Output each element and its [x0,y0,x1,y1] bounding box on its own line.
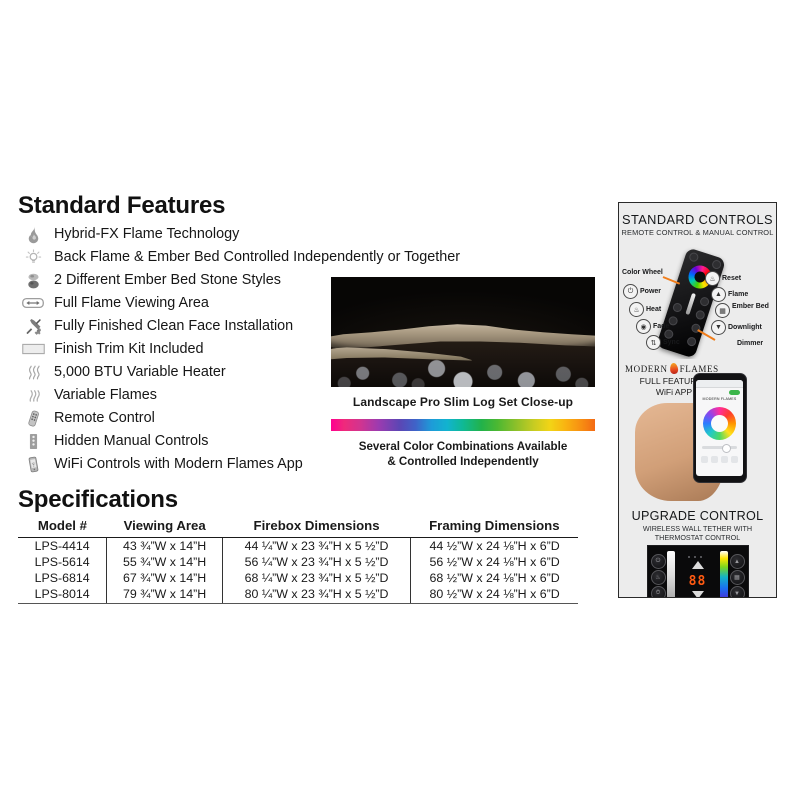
tether-timer-button[interactable]: ⏱ [651,586,666,598]
phone-brightness-slider[interactable] [702,446,737,449]
phone-screen: MODERN FLAMES [696,380,743,476]
downlight-icon: ▼ [711,320,726,335]
cell-framing: 68 ½”W x 24 ⅛”H x 6”D [411,570,578,586]
cell-framing: 44 ½”W x 24 ⅛”H x 6”D [411,538,578,555]
remote-button [699,296,710,307]
heat-waves-icon [18,362,48,383]
column-header-framing-dimensions: Framing Dimensions [411,516,578,538]
callout-label-downlight: Downlight [728,324,762,331]
list-item-label: Remote Control [54,411,155,425]
log-set-photo [331,277,595,387]
flame-icon [18,224,48,245]
specifications-title: Specifications [18,486,603,514]
tether-indicator-led [700,556,702,558]
standard-controls-subtitle: REMOTE CONTROL & MANUAL CONTROL [619,228,776,237]
table-row: LPS-4414 43 ¾”W x 14”H 44 ¼”W x 23 ¾”H x… [18,538,578,555]
wall-tether-device: ⏻ ♨ ⏱ ▣ ▲ ▦ ▼ ⇅ 88 [647,545,749,598]
color-gradient-bar [331,419,595,431]
cell-firebox: 68 ¼”W x 23 ¾”H x 5 ½”D [222,570,410,586]
phone-button[interactable] [701,456,708,463]
upgrade-control-title: UPGRADE CONTROL [619,509,776,523]
reset-icon: ♨ [705,271,720,286]
table-row: LPS-6814 67 ¾”W x 14”H 68 ¼”W x 23 ¾”H x… [18,570,578,586]
log-set-photo-block: Landscape Pro Slim Log Set Close-up Seve… [331,277,595,470]
tools-icon [18,316,48,337]
width-arrows-icon [18,293,48,314]
phone-button-row [701,456,738,463]
photo-caption: Landscape Pro Slim Log Set Close-up [331,395,595,409]
heat-icon: ♨ [629,302,644,317]
phone-button[interactable] [731,456,738,463]
list-item-label: Finish Trim Kit Included [54,342,204,356]
table-header-row: Model # Viewing Area Firebox Dimensions … [18,516,578,538]
brand-text-right: FLAMES [680,364,719,374]
column-header-viewing-area: Viewing Area [107,516,223,538]
phone-status-bar [696,380,743,388]
trim-rectangle-icon [18,339,48,360]
cell-firebox: 56 ¼”W x 23 ¾”H x 5 ½”D [222,554,410,570]
smartphone-device: MODERN FLAMES [693,373,747,483]
callout-label-ember-bed: Ember Bed [732,303,769,311]
list-item-label: Fully Finished Clean Face Installation [54,319,293,333]
fade-icon: ◉ [636,319,651,334]
color-note: Several Color Combinations Available & C… [331,440,595,470]
phone-color-wheel[interactable] [703,407,736,440]
tether-flame-button[interactable]: ▲ [730,554,745,569]
remote-button [686,336,697,347]
standard-controls-title: STANDARD CONTROLS [619,212,776,227]
callout-label-color-wheel: Color Wheel [622,269,663,276]
controls-panel: STANDARD CONTROLS REMOTE CONTROL & MANUA… [618,202,777,598]
cell-framing: 56 ½”W x 24 ⅛”H x 6”D [411,554,578,570]
cell-viewing-area: 55 ¾”W x 14”H [107,554,223,570]
cell-model: LPS-4414 [18,538,107,555]
cell-firebox: 80 ¼”W x 23 ¾”H x 5 ½”D [222,586,410,604]
upgrade-control-subtitle: WIRELESS WALL TETHER WITH THERMOSTAT CON… [619,524,776,542]
tether-color-slider[interactable] [720,551,728,598]
color-note-line-1: Several Color Combinations Available [331,440,595,455]
table-row: LPS-5614 55 ¾”W x 14”H 56 ¼”W x 23 ¾”H x… [18,554,578,570]
brand-flame-icon [669,363,678,375]
cell-framing: 80 ½”W x 24 ⅛”H x 6”D [411,586,578,604]
phone-button[interactable] [721,456,728,463]
list-item-label: Hidden Manual Controls [54,434,208,448]
remote-button [688,251,699,262]
callout-label-sync: Sync [663,339,680,346]
list-item-label: Full Flame Viewing Area [54,296,209,310]
standard-features-title: Standard Features [18,192,603,220]
specifications-table: Model # Viewing Area Firebox Dimensions … [18,516,578,604]
callout-label-fade: Fade [653,323,669,330]
callout-label-dimmer: Dimmer [737,340,763,347]
list-item-label: Variable Flames [54,388,157,402]
remote-icon [18,408,48,429]
ember-bed-icon: ▦ [715,303,730,318]
lightbulb-icon [18,247,48,268]
list-item-label: 2 Different Ember Bed Stone Styles [54,273,281,287]
column-header-model: Model # [18,516,107,538]
list-item: Back Flame & Ember Bed Controlled Indepe… [18,246,603,269]
upgrade-sub-line-2: THERMOSTAT CONTROL [619,533,776,542]
phone-power-toggle[interactable] [729,390,740,395]
tether-temperature-display: 88 [686,574,710,589]
cell-model: LPS-6814 [18,570,107,586]
list-item-label: Back Flame & Ember Bed Controlled Indepe… [54,250,460,264]
tether-heat-button[interactable]: ♨ [651,570,666,585]
wifi-app-section: MODERN FLAMES FULL FEATURED WiFi APP MOD… [619,359,777,507]
cell-model: LPS-5614 [18,554,107,570]
callout-label-flame: Flame [728,291,748,298]
sync-icon: ⇅ [646,335,661,350]
control-panel-icon [18,431,48,452]
callout-label-reset: Reset [722,275,741,282]
flame-icon: ▲ [711,287,726,302]
callout-label-heat: Heat [646,306,661,313]
tether-indicator-led [694,556,696,558]
tether-down-arrow-button[interactable] [692,591,704,598]
upgrade-sub-line-1: WIRELESS WALL TETHER WITH [619,524,776,533]
tether-indicator-led [688,556,690,558]
tether-brightness-slider[interactable] [667,551,675,598]
remote-button [672,302,683,313]
color-note-line-2: & Controlled Independently [331,455,595,470]
remote-diagram: Color Wheel ⏻ Power ♨ Heat ◉ Fade ⇅ Sync… [619,239,777,359]
cell-viewing-area: 67 ¾”W x 14”H [107,570,223,586]
remote-slider [685,293,696,315]
column-header-firebox-dimensions: Firebox Dimensions [222,516,410,538]
stones-icon [18,270,48,291]
tether-up-arrow-button[interactable] [692,561,704,569]
tether-power-button[interactable]: ⏻ [651,554,666,569]
phone-button[interactable] [711,456,718,463]
phone-app-brand: MODERN FLAMES [696,397,743,401]
cell-viewing-area: 79 ¾”W x 14”H [107,586,223,604]
list-item-label: 5,000 BTU Variable Heater [54,365,226,379]
tether-ember-button[interactable]: ▦ [730,570,745,585]
tether-downlight-button[interactable]: ▼ [730,586,745,598]
callout-label-power: Power [640,288,661,295]
cell-viewing-area: 43 ¾”W x 14”H [107,538,223,555]
smartphone-icon [18,454,48,475]
table-row: LPS-8014 79 ¾”W x 14”H 80 ¼”W x 23 ¾”H x… [18,586,578,604]
list-item: Hybrid-FX Flame Technology [18,223,603,246]
brand-text-left: MODERN [625,364,668,374]
remote-button [695,309,706,320]
list-item-label: WiFi Controls with Modern Flames App [54,457,303,471]
remote-button [711,259,722,270]
photo-crystal-media [331,341,595,387]
cell-model: LPS-8014 [18,586,107,604]
power-icon: ⏻ [623,284,638,299]
list-item-label: Hybrid-FX Flame Technology [54,227,239,241]
flame-waves-icon [18,385,48,406]
cell-firebox: 44 ¼”W x 23 ¾”H x 5 ½”D [222,538,410,555]
